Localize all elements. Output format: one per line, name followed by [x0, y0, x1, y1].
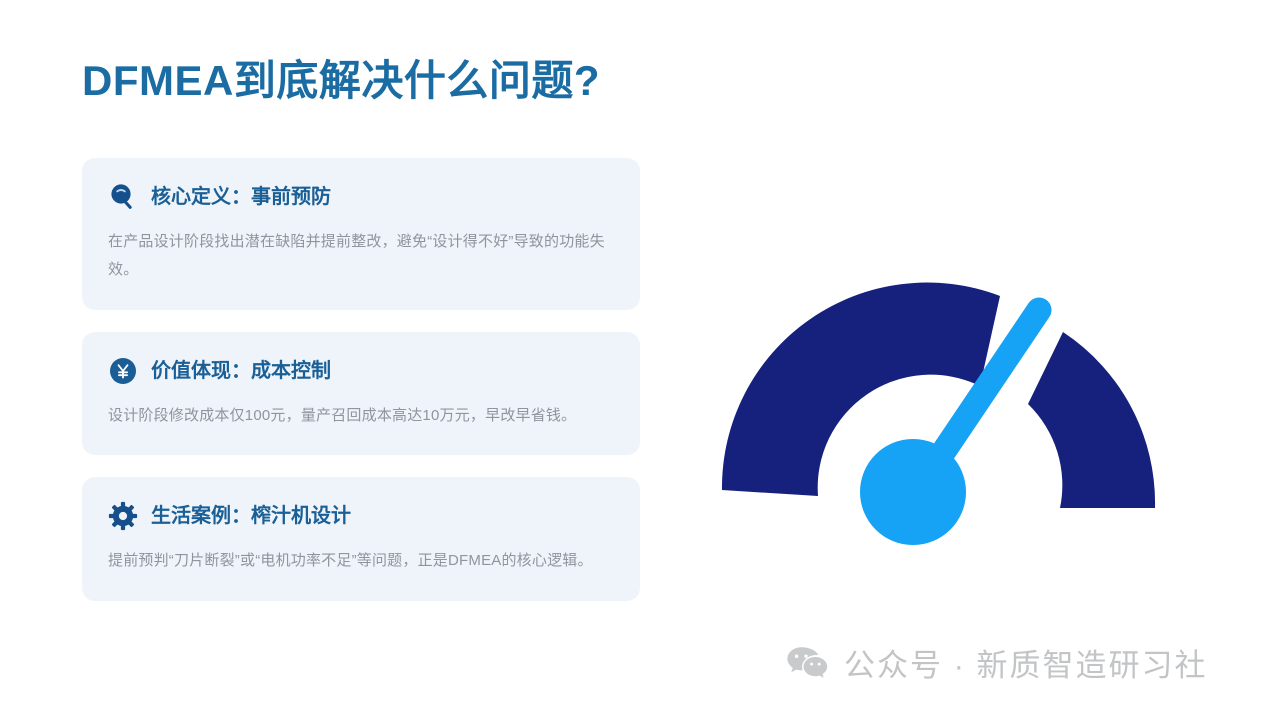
card-title: 价值体现：成本控制: [151, 359, 331, 383]
yen-circle-icon: [108, 356, 138, 386]
card-value-cost-control[interactable]: 价值体现：成本控制 设计阶段修改成本仅100元，量产召回成本高达10万元，早改早…: [82, 332, 640, 456]
magnifier-icon: [108, 182, 138, 212]
card-title: 核心定义：事前预防: [151, 185, 331, 209]
gauge-arc-left: [722, 283, 1000, 496]
card-list: 核心定义：事前预防 在产品设计阶段找出潜在缺陷并提前整改，避免“设计得不好”导致…: [82, 158, 640, 623]
gauge-arc-right: [1028, 332, 1155, 508]
slide-root: DFMEA到底解决什么问题? 核心定义：事前预防 在产品设计阶段找出潜在缺陷并提…: [0, 0, 1280, 720]
card-body-text: 设计阶段修改成本仅100元，量产召回成本高达10万元，早改早省钱。: [108, 402, 614, 430]
gauge-hub: [860, 439, 966, 545]
wechat-icon: [786, 645, 828, 681]
gear-icon: [108, 501, 138, 531]
card-header: 价值体现：成本控制: [108, 356, 614, 386]
footer-watermark: 公众号 · 新质智造研习社: [786, 640, 1208, 685]
card-header: 核心定义：事前预防: [108, 182, 614, 212]
card-header: 生活案例：榨汁机设计: [108, 501, 614, 531]
gauge-meter-illustration: [700, 262, 1200, 592]
card-title: 生活案例：榨汁机设计: [151, 504, 351, 528]
card-body-text: 提前预判“刀片断裂”或“电机功率不足”等问题，正是DFMEA的核心逻辑。: [108, 547, 614, 575]
page-title: DFMEA到底解决什么问题?: [82, 57, 600, 105]
card-core-definition[interactable]: 核心定义：事前预防 在产品设计阶段找出潜在缺陷并提前整改，避免“设计得不好”导致…: [82, 158, 640, 310]
footer-text: 公众号 · 新质智造研习社: [844, 640, 1208, 685]
card-life-example[interactable]: 生活案例：榨汁机设计 提前预判“刀片断裂”或“电机功率不足”等问题，正是DFME…: [82, 477, 640, 601]
card-body-text: 在产品设计阶段找出潜在缺陷并提前整改，避免“设计得不好”导致的功能失效。: [108, 228, 614, 284]
